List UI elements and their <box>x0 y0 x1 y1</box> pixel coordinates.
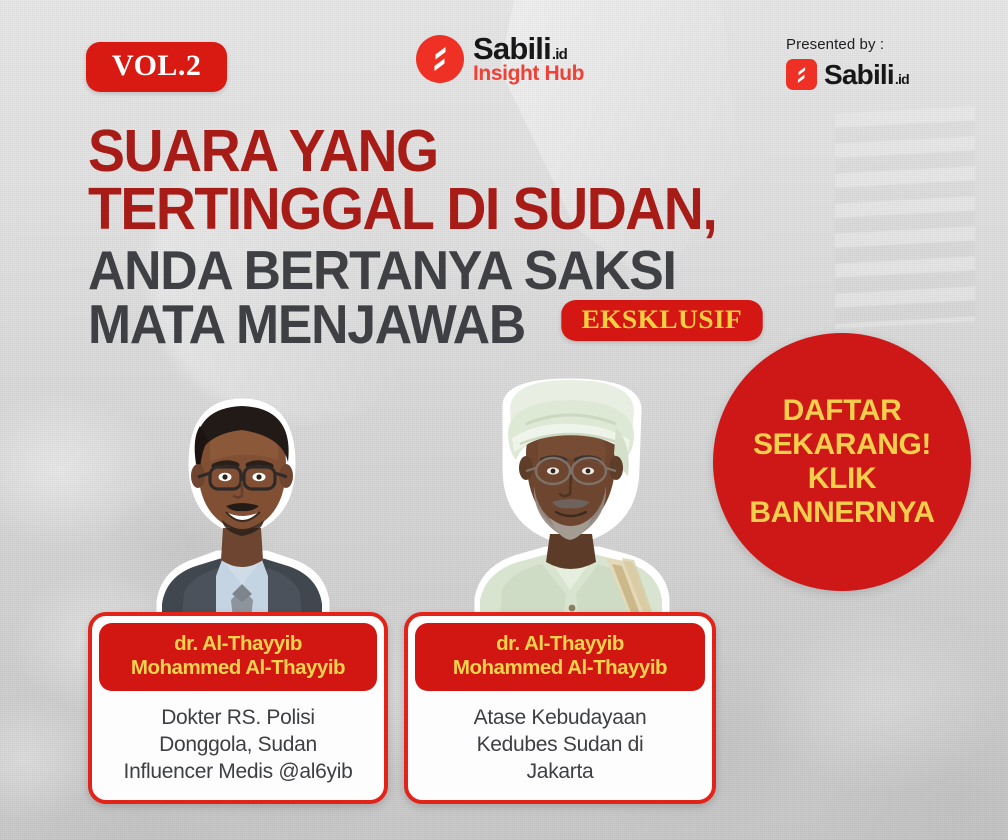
logo-sabili-text: Sabili.id <box>473 34 584 63</box>
headline-line-1: SUARA YANG <box>88 122 859 180</box>
headline-line-4: MATA MENJAWAB <box>88 297 525 351</box>
speaker-name-line-2: Mohammed Al-Thayyib <box>109 656 367 680</box>
headline-block: SUARA YANG TERTINGGAL DI SUDAN, ANDA BER… <box>88 122 908 352</box>
cta-line-1: DAFTAR <box>783 394 902 428</box>
logo-domain-suffix: .id <box>552 48 567 62</box>
presented-by-block: Presented by : Sabili.id <box>786 36 909 90</box>
volume-badge: VOL.2 <box>86 42 227 92</box>
speaker-desc-line-2: Donggola, Sudan <box>103 731 373 758</box>
presented-by-label: Presented by : <box>786 36 909 53</box>
headline-line-4-row: MATA MENJAWAB EKSKLUSIF <box>88 297 908 351</box>
speaker-description: Atase Kebudayaan Kedubes Sudan di Jakart… <box>415 691 705 788</box>
speaker-name-banner: dr. Al-Thayyib Mohammed Al-Thayyib <box>415 623 705 691</box>
headline-line-2: TERTINGGAL DI SUDAN, <box>88 180 859 238</box>
sabili-s-mark-icon <box>416 35 464 83</box>
speaker-card[interactable]: dr. Al-Thayyib Mohammed Al-Thayyib Atase… <box>404 612 716 804</box>
logo-wordmark: Sabili.id Insight Hub <box>473 33 584 84</box>
speaker-desc-line-3: Influencer Medis @al6yib <box>103 758 373 785</box>
exclusive-badge: EKSKLUSIF <box>561 300 762 341</box>
cta-line-4: BANNERNYA <box>749 496 934 530</box>
presented-by-wordmark: Sabili.id <box>824 61 909 89</box>
speaker-desc-line-2: Kedubes Sudan di <box>419 731 701 758</box>
portrait-elder-man-turban-robe <box>446 372 696 646</box>
speaker-desc-line-3: Jakarta <box>419 758 701 785</box>
cta-line-3: KLIK <box>808 462 876 496</box>
speaker-name-line-1: dr. Al-Thayyib <box>425 632 695 656</box>
headline-line-3: ANDA BERTANYA SAKSI <box>88 243 859 297</box>
speaker-name-line-2: Mohammed Al-Thayyib <box>425 656 695 680</box>
speaker-desc-line-1: Dokter RS. Polisi <box>103 704 373 731</box>
presented-domain-suffix: .id <box>895 72 909 86</box>
sabili-insight-hub-logo[interactable]: Sabili.id Insight Hub <box>416 33 584 84</box>
register-cta-button[interactable]: DAFTAR SEKARANG! KLIK BANNERNYA <box>713 333 971 591</box>
presented-by-logo[interactable]: Sabili.id <box>786 59 909 90</box>
promo-banner[interactable]: VOL.2 Sabili.id Insight Hub Presented by… <box>0 0 1008 840</box>
sabili-s-mark-icon <box>786 59 817 90</box>
speaker-card[interactable]: dr. Al-Thayyib Mohammed Al-Thayyib Dokte… <box>88 612 388 804</box>
speaker-desc-line-1: Atase Kebudayaan <box>419 704 701 731</box>
portrait-young-man-glasses-suit <box>122 378 362 646</box>
cta-line-2: SEKARANG! <box>753 428 931 462</box>
speaker-name-banner: dr. Al-Thayyib Mohammed Al-Thayyib <box>99 623 377 691</box>
logo-tagline: Insight Hub <box>473 62 584 85</box>
speaker-name-line-1: dr. Al-Thayyib <box>109 632 367 656</box>
speaker-description: Dokter RS. Polisi Donggola, Sudan Influe… <box>99 691 377 788</box>
